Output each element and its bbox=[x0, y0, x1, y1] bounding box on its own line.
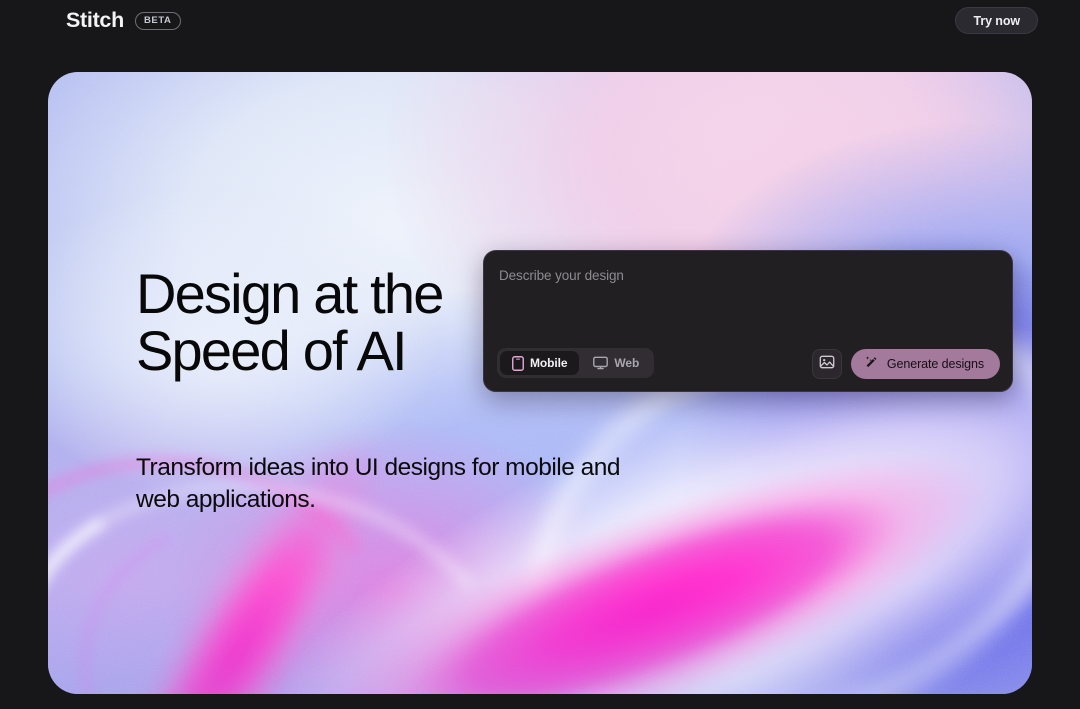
platform-option-web[interactable]: Web bbox=[581, 351, 651, 375]
platform-option-mobile[interactable]: Mobile bbox=[500, 351, 579, 375]
prompt-panel: Describe your design Mobile bbox=[483, 250, 1013, 392]
prompt-input[interactable]: Describe your design bbox=[499, 268, 624, 283]
hero-card: Design at the Speed of AI Transform idea… bbox=[48, 72, 1032, 694]
platform-toggle-group: Mobile Web bbox=[497, 348, 654, 378]
mobile-phone-icon bbox=[512, 356, 524, 371]
brand-logo[interactable]: Stitch BETA bbox=[66, 7, 181, 33]
generate-designs-button[interactable]: Generate designs bbox=[851, 349, 1000, 379]
monitor-icon bbox=[593, 356, 608, 370]
try-now-button[interactable]: Try now bbox=[955, 7, 1038, 34]
app-root: Stitch BETA Try now bbox=[0, 0, 1080, 709]
brand-wordmark: Stitch bbox=[66, 7, 124, 33]
top-bar: Stitch BETA Try now bbox=[0, 0, 1080, 46]
platform-option-web-label: Web bbox=[614, 356, 639, 370]
page-subtitle: Transform ideas into UI designs for mobi… bbox=[136, 452, 736, 516]
prompt-actions: Generate designs bbox=[812, 349, 1000, 379]
attach-image-button[interactable] bbox=[812, 349, 842, 379]
platform-option-mobile-label: Mobile bbox=[530, 356, 567, 370]
page-title: Design at the Speed of AI bbox=[136, 265, 443, 379]
image-icon bbox=[819, 354, 835, 375]
generate-designs-label: Generate designs bbox=[887, 357, 984, 371]
magic-wand-sparkle-icon bbox=[863, 355, 879, 374]
beta-badge: BETA bbox=[135, 12, 181, 31]
